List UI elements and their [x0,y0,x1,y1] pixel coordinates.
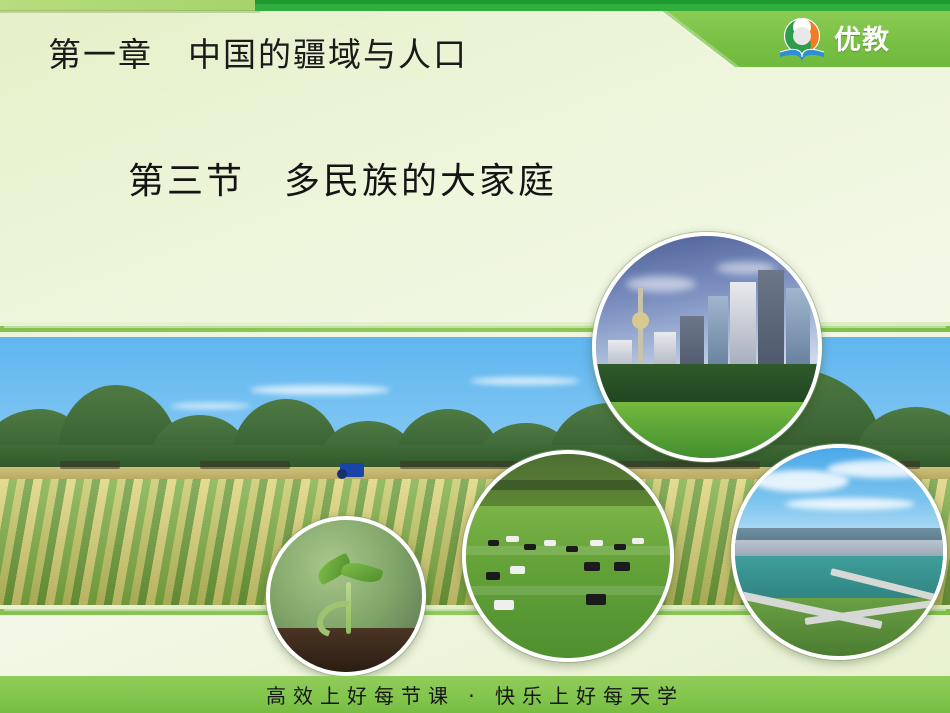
cow-shape [506,536,519,542]
people-row [200,461,290,469]
river-city-circle [731,444,947,660]
cloud-shape [626,276,696,292]
cow-shape [566,546,578,552]
city-skyline-circle [592,232,822,462]
tractor-icon [340,463,364,477]
seedling-circle-content [270,520,422,672]
cow-shape [544,540,556,546]
grass-field [466,506,670,658]
soil [270,628,422,672]
brand-logo[interactable]: 优教 [775,14,945,66]
cow-shape [494,600,514,610]
grass-band [466,586,670,595]
cow-shape [510,566,525,574]
chapter-title: 第一章 中国的疆域与人口 [48,28,468,76]
people-row [60,461,120,469]
section-title: 第三节 多民族的大家庭 [128,152,557,204]
top-bar-left-shadow [0,10,260,13]
cow-shape [614,544,626,550]
presentation-slide: 优教 第一章 中国的疆域与人口 第三节 多民族的大家庭 [0,0,950,713]
cow-shape [586,594,606,605]
grassland-circle-content [466,454,670,658]
city-circle-content [596,236,818,458]
cow-shape [584,562,600,571]
cloud-shape [170,403,250,409]
cow-shape [614,562,630,571]
cloud-shape [470,377,580,385]
grass-ridge [466,480,670,490]
cloud-shape [785,498,915,510]
observation-tower [638,288,643,376]
cow-shape [524,544,536,550]
swirl-book-logo-icon [775,15,829,65]
grassland-cattle-circle [462,450,674,662]
river-circle-content [735,448,943,656]
seedling-circle [266,516,426,676]
cloud-shape [827,460,937,478]
cow-shape [486,572,500,580]
cow-shape [590,540,603,546]
brand-name: 优教 [834,27,890,54]
footer-slogan: 高效上好每节课 · 快乐上好每天学 [0,679,950,710]
cow-shape [488,540,499,546]
top-bar-green-highlight [255,0,950,4]
city-trees [596,364,818,406]
cow-shape [632,538,644,544]
cloud-shape [250,385,390,395]
